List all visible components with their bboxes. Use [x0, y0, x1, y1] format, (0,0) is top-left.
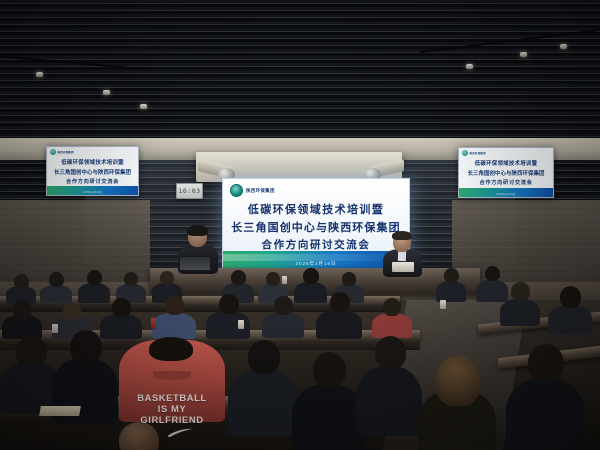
attendee-body [316, 310, 362, 339]
shirt-text-line-1: BASKETBALL [119, 392, 225, 403]
notebook-on-desk [39, 406, 81, 416]
shirt-collar [153, 371, 191, 380]
attendee [100, 298, 142, 334]
attendee-head [444, 268, 459, 283]
attendee-head [383, 298, 401, 316]
attendee [152, 296, 196, 334]
shirt-text-line-2: IS MY [119, 403, 225, 414]
attendee-head [266, 272, 280, 286]
attendee-head [274, 296, 293, 315]
attendee-head [436, 356, 480, 406]
attendee-body [262, 312, 304, 338]
attendee-head [313, 352, 346, 387]
left-screen-title-3: 合作方向研讨交流会 [47, 178, 138, 185]
attendee [500, 282, 540, 322]
attendee-body [500, 299, 540, 326]
attendee-head [124, 272, 138, 286]
left-screen-title-2: 长三角国创中心与陕西环保集团 [47, 168, 138, 176]
attendee-body [436, 281, 466, 302]
wall-lcd-panel[interactable]: 16:03 [176, 183, 203, 199]
slide-logo-text: 陕西环保集团 [246, 188, 275, 193]
slide-title-line-1: 低碳环保领域技术培训暨 [223, 201, 409, 217]
speaker-right-hair [392, 231, 412, 240]
left-screen-title-1: 低碳环保领域技术培训暨 [47, 158, 138, 166]
ceiling-spot-light [103, 90, 110, 95]
ceiling-spot-light [36, 72, 43, 77]
attendee-head [248, 340, 280, 374]
paper-cup [282, 276, 287, 284]
attendee-head [231, 270, 246, 285]
attendee-head [13, 300, 32, 319]
speaker-left-hair [187, 225, 208, 236]
left-screen-date: 2025年2月19日 [47, 190, 138, 194]
attendee-head [70, 330, 102, 363]
company-emblem-icon [50, 149, 56, 155]
attendee-head [119, 422, 159, 450]
ceiling-slats-upper [0, 0, 600, 148]
side-display-left: 陕西环保集团 低碳环保领域技术培训暨 长三角国创中心与陕西环保集团 合作方向研讨… [46, 146, 139, 196]
attendee-head [16, 336, 47, 367]
company-emblem-icon [462, 150, 468, 156]
attendee-body [228, 370, 298, 436]
attendee-head [49, 272, 64, 287]
right-screen-logo-text: 陕西环保集团 [470, 151, 486, 155]
attendee-head [528, 344, 564, 382]
right-screen-title-2: 长三角国创中心与陕西环保集团 [459, 169, 553, 177]
right-screen-title-1: 低碳环保领域技术培训暨 [459, 159, 553, 167]
right-screen-date: 2025年2月19日 [459, 192, 553, 196]
ceiling-spot-light [520, 52, 527, 57]
paper-cup [238, 320, 244, 329]
attendee-head [560, 286, 581, 308]
attendee-head [87, 270, 102, 285]
foreground-attendee-basketball-shirt: BASKETBALL IS MY GIRLFRIEND [119, 340, 225, 450]
attendee-head [14, 274, 29, 289]
wall-lcd-value: 16:03 [178, 187, 200, 195]
attendee [316, 292, 362, 334]
attendee [6, 274, 36, 300]
attendee-head [511, 282, 530, 301]
attendee-head [160, 271, 174, 285]
attendee [356, 336, 422, 432]
nike-swoosh-icon [167, 428, 193, 438]
ceiling-spot-light [140, 104, 147, 109]
company-emblem-icon [230, 184, 243, 197]
attendee [548, 286, 592, 330]
side-display-right: 陕西环保集团 低碳环保领域技术培训暨 长三角国创中心与陕西环保集团 合作方向研讨… [458, 147, 554, 198]
left-screen-logo: 陕西环保集团 [50, 149, 74, 155]
attendee-head [219, 294, 239, 314]
attendee [40, 272, 72, 300]
right-screen-title-3: 合作方向研讨交流会 [459, 179, 553, 186]
attendee [2, 300, 42, 334]
attendee-body [40, 285, 72, 303]
shirt-text-line-3: GIRLFRIEND [119, 414, 225, 425]
attendee-body [292, 384, 364, 450]
laptop-on-head-table [179, 256, 211, 271]
attendee-head [330, 292, 350, 312]
attendee-head [165, 296, 184, 315]
attendee [436, 268, 466, 300]
attendee-head [303, 268, 319, 284]
attendee [292, 352, 364, 450]
attendee-head [112, 298, 131, 317]
attendee-head [375, 336, 406, 369]
attendee-body [372, 313, 412, 338]
attendee [116, 272, 146, 300]
ceiling-spot-light [466, 64, 473, 69]
microphone-nameplate [392, 262, 414, 272]
attendee-body [152, 313, 196, 339]
attendee-body [356, 366, 422, 436]
right-screen-logo: 陕西环保集团 [462, 150, 486, 156]
attendee [262, 296, 304, 334]
attendee-long-hair [418, 356, 496, 450]
water-bottle [151, 318, 156, 329]
left-screen-logo-text: 陕西环保集团 [58, 150, 74, 154]
paper-cup [440, 300, 446, 309]
attendee-hair [149, 337, 193, 361]
attendee [506, 344, 584, 450]
attendee-head [63, 302, 81, 320]
attendee [78, 270, 110, 300]
attendee [228, 340, 298, 432]
conference-room-photo: 16:03 陕西环保集团 低碳环保领域技术培训暨 长三角国创中心与陕西环保集团 … [0, 0, 600, 450]
attendee-head [485, 266, 500, 281]
ceiling-spot-light [560, 44, 567, 49]
attendee-body [548, 305, 592, 335]
attendee [372, 298, 412, 334]
attendee-head [342, 272, 356, 286]
attendee-body [506, 378, 584, 450]
slide-logo: 陕西环保集团 [230, 184, 275, 197]
